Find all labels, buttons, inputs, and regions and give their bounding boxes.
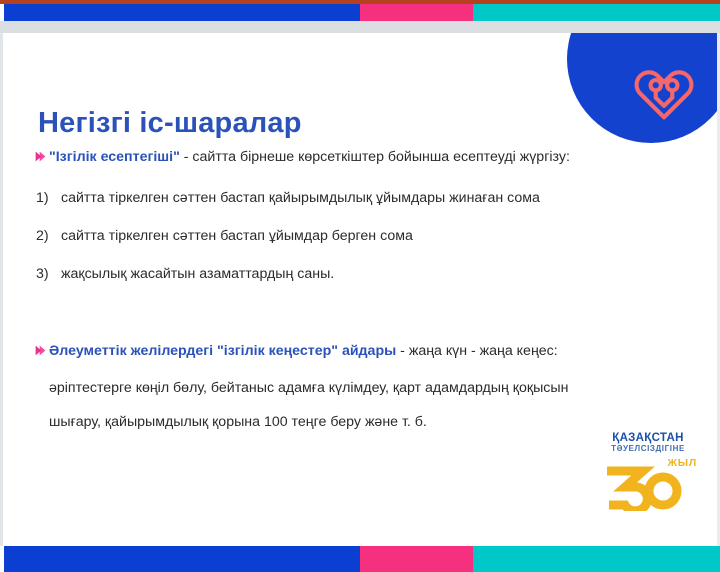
kz-logo-number-30-icon <box>603 465 687 511</box>
numbered-item-3-marker: 3) <box>36 264 61 284</box>
bullet-item-2: Әлеуметтік желілердегі "ізгілік кеңестер… <box>34 341 558 362</box>
charity-heart-logo-icon <box>633 65 695 123</box>
double-chevron-icon <box>34 342 49 362</box>
numbered-item-2-marker: 2) <box>36 226 61 246</box>
bullet-1-highlight: "Ізгілік есептегіші" <box>49 149 180 165</box>
bullet-1-rest: - сайтта бірнеше көрсеткіштер бойынша ес… <box>180 149 570 165</box>
bullet-2-rest: - жаңа күн - жаңа кеңес: <box>396 343 557 359</box>
gray-separator-band <box>0 21 720 33</box>
top-bar-segment-blue <box>4 4 360 21</box>
top-bar-segment-teal <box>473 4 720 21</box>
bullet-2-text: Әлеуметтік желілердегі "ізгілік кеңестер… <box>49 341 558 361</box>
bullet-2-continuation-line-2: шығару, қайырымдылық қорына 100 теңге бе… <box>49 412 427 432</box>
kz-logo-line-1: ҚАЗАҚСТАН <box>597 432 699 444</box>
kz-logo-mark: ЖЫЛ <box>597 455 699 509</box>
presentation-slide: Негізгі іс-шаралар "Ізгілік есептегіші" … <box>0 0 720 572</box>
numbered-item-3: 3) жақсылық жасайтын азаматтардың саны. <box>36 264 334 284</box>
bullet-2-continuation-line-1: әріптестерге көңіл бөлу, бейтаныс адамға… <box>49 378 568 398</box>
bullet-1-text: "Ізгілік есептегіші" - сайтта бірнеше кө… <box>49 147 570 167</box>
double-chevron-icon <box>34 148 49 168</box>
numbered-item-1-text: сайтта тіркелген сәттен бастап қайырымды… <box>61 188 540 208</box>
bottom-bar-segment-blue <box>4 546 360 572</box>
numbered-item-3-text: жақсылық жасайтын азаматтардың саны. <box>61 264 334 284</box>
numbered-item-2-text: сайтта тіркелген сәттен бастап ұйымдар б… <box>61 226 413 246</box>
slide-canvas: Негізгі іс-шаралар "Ізгілік есептегіші" … <box>3 33 717 546</box>
kazakhstan-30-years-logo: ҚАЗАҚСТАН ТӘУЕЛСІЗДІГІНЕ ЖЫЛ <box>597 432 699 514</box>
numbered-item-2: 2) сайтта тіркелген сәттен бастап ұйымда… <box>36 226 413 246</box>
page-title: Негізгі іс-шаралар <box>38 107 302 140</box>
kz-logo-line-2: ТӘУЕЛСІЗДІГІНЕ <box>597 444 699 454</box>
bottom-bar-segment-pink <box>360 546 473 572</box>
numbered-item-1-marker: 1) <box>36 188 61 208</box>
bottom-bar-segment-teal <box>473 546 720 572</box>
top-bar-segment-pink <box>360 4 473 21</box>
numbered-item-1: 1) сайтта тіркелген сәттен бастап қайыры… <box>36 188 540 208</box>
bullet-2-highlight: Әлеуметтік желілердегі "ізгілік кеңестер… <box>49 343 396 359</box>
bullet-item-1: "Ізгілік есептегіші" - сайтта бірнеше кө… <box>34 147 570 168</box>
